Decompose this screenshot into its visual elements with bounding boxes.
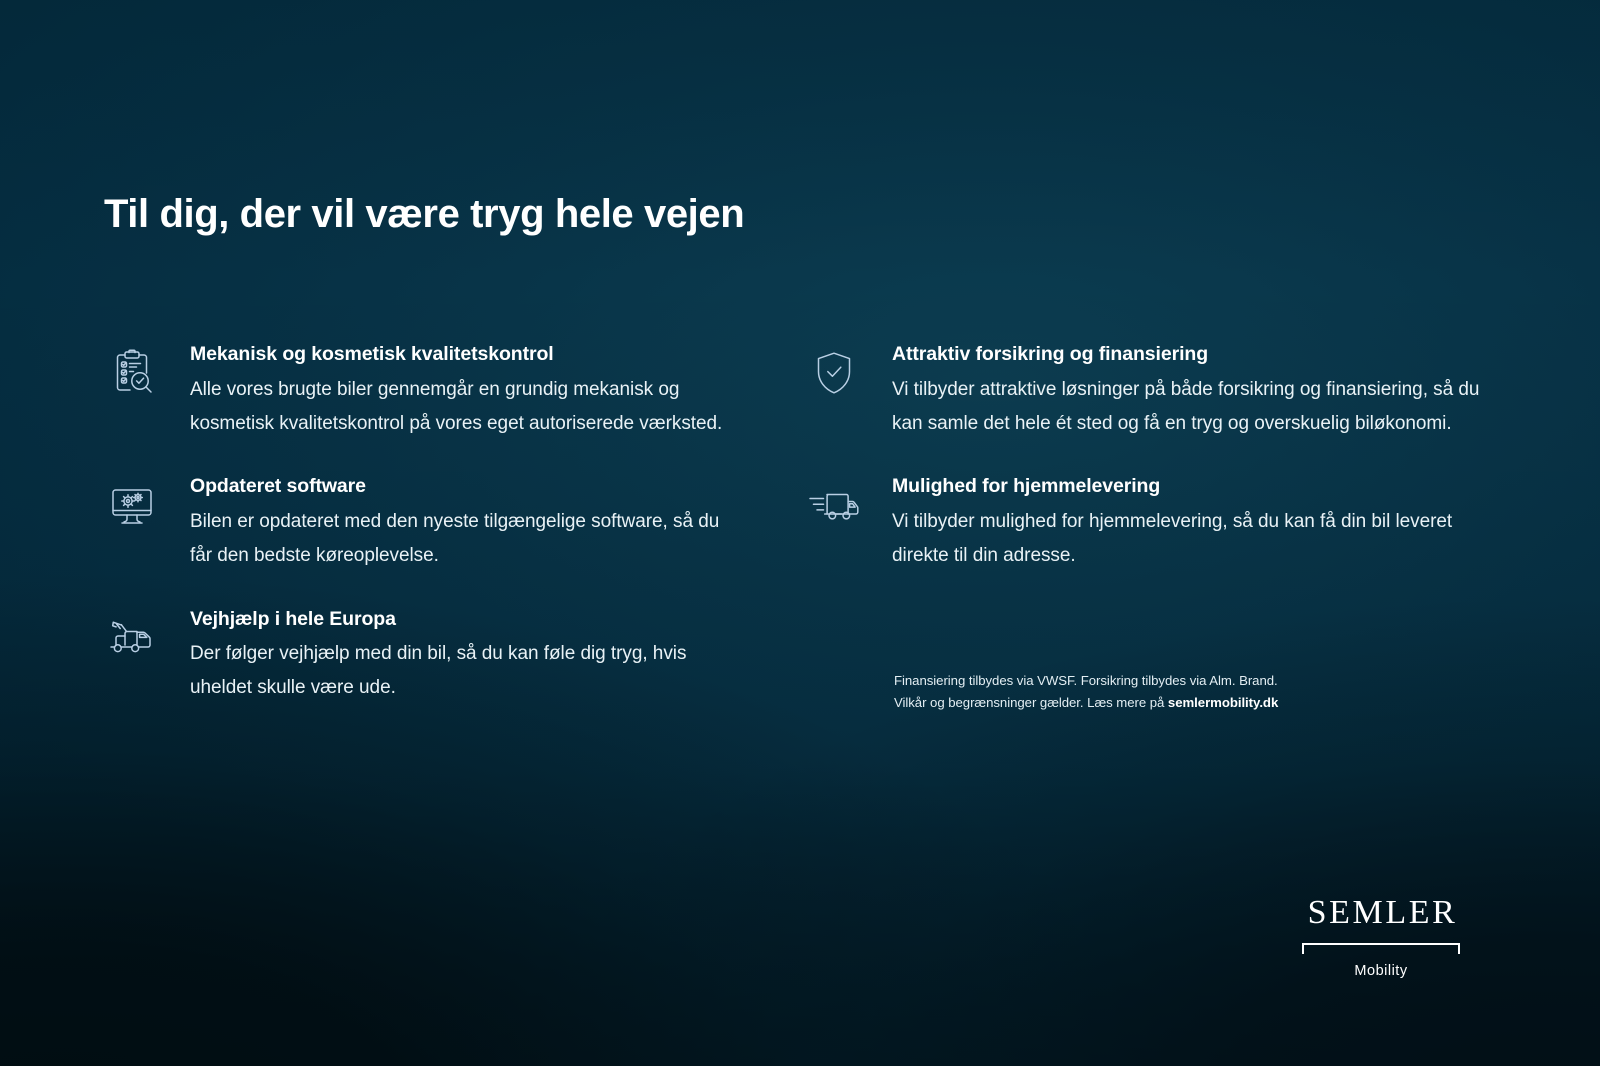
feature-item-home-delivery: Mulighed for hjemmelevering Vi tilbyder …: [806, 474, 1486, 572]
feature-description: Bilen er opdateret med den nyeste tilgæn…: [190, 505, 744, 573]
feature-item-insurance-financing: Attraktiv forsikring og finansiering Vi …: [806, 342, 1486, 440]
monitor-gears-icon: [104, 481, 160, 533]
feature-body: Mekanisk og kosmetisk kvalitetskontrol A…: [190, 342, 744, 440]
features-column-right: Attraktiv forsikring og finansiering Vi …: [806, 342, 1486, 573]
shield-check-icon: [806, 349, 862, 401]
logo-divider-cap-left: [1302, 943, 1304, 954]
feature-description: Alle vores brugte biler gennemgår en gru…: [190, 373, 744, 441]
logo-subtitle: Mobility: [1302, 964, 1460, 979]
logo-divider: [1302, 943, 1460, 955]
feature-description: Vi tilbyder attraktive løsninger på både…: [892, 373, 1486, 441]
feature-body: Vejhjælp i hele Europa Der følger vejhjæ…: [190, 607, 744, 705]
page-title: Til dig, der vil være tryg hele vejen: [104, 192, 744, 237]
disclaimer-line-1: Finansiering tilbydes via VWSF. Forsikri…: [894, 673, 1278, 688]
feature-item-roadside-assistance: Vejhjælp i hele Europa Der følger vejhjæ…: [104, 607, 744, 705]
feature-item-quality-control: Mekanisk og kosmetisk kvalitetskontrol A…: [104, 342, 744, 440]
feature-title: Attraktiv forsikring og finansiering: [892, 342, 1486, 368]
disclaimer-text: Finansiering tilbydes via VWSF. Forsikri…: [894, 670, 1374, 713]
semler-mobility-logo: SEMLER Mobility: [1302, 896, 1460, 979]
feature-title: Vejhjælp i hele Europa: [190, 607, 744, 633]
delivery-truck-icon: [806, 481, 862, 533]
logo-wordmark: SEMLER: [1302, 896, 1460, 930]
feature-body: Opdateret software Bilen er opdateret me…: [190, 474, 744, 572]
feature-item-software: Opdateret software Bilen er opdateret me…: [104, 474, 744, 572]
feature-description: Vi tilbyder mulighed for hjemmelevering,…: [892, 505, 1486, 573]
clipboard-check-magnifier-icon: [104, 349, 160, 401]
features-column-left: Mekanisk og kosmetisk kvalitetskontrol A…: [104, 342, 744, 705]
promo-panel: Til dig, der vil være tryg hele vejen: [0, 0, 1600, 1066]
feature-title: Mulighed for hjemmelevering: [892, 474, 1486, 500]
disclaimer-link[interactable]: semlermobility.dk: [1168, 695, 1278, 710]
disclaimer-line-2-prefix: Vilkår og begrænsninger gælder. Læs mere…: [894, 695, 1168, 710]
logo-divider-cap-right: [1458, 943, 1460, 954]
feature-title: Opdateret software: [190, 474, 744, 500]
feature-description: Der følger vejhjælp med din bil, så du k…: [190, 637, 744, 705]
tow-truck-icon: [104, 614, 160, 666]
feature-body: Mulighed for hjemmelevering Vi tilbyder …: [892, 474, 1486, 572]
feature-body: Attraktiv forsikring og finansiering Vi …: [892, 342, 1486, 440]
feature-title: Mekanisk og kosmetisk kvalitetskontrol: [190, 342, 744, 368]
